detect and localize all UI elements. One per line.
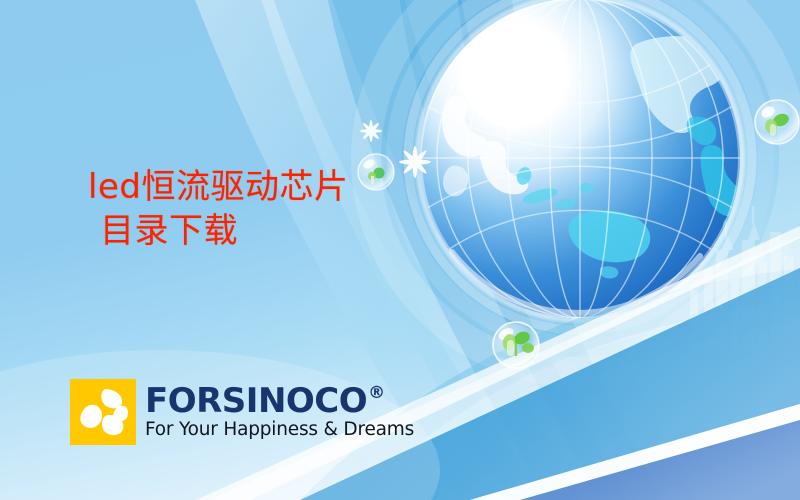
headline-line-1: led恒流驱动芯片 — [88, 166, 348, 210]
headline-line-1-cjk: 恒流驱动芯片 — [141, 167, 348, 207]
forsinoco-logo: FORSINOCO® For Your Happiness & Dreams — [70, 379, 414, 445]
brand-name: FORSINOCO® — [145, 384, 414, 418]
registered-trademark-symbol: ® — [368, 385, 385, 402]
headline-text: led恒流驱动芯片 目录下载 — [88, 166, 348, 253]
sparkle-star-large — [399, 146, 431, 178]
sparkle-star-small — [360, 120, 382, 142]
headline-line-2: 目录下载 — [88, 210, 348, 254]
bubble-right-edge — [755, 100, 799, 144]
pinwheel-icon — [70, 379, 136, 445]
headline-line-1-latin: led — [88, 167, 141, 207]
forsinoco-pinwheel-mark — [70, 379, 136, 445]
brand-tagline: For Your Happiness & Dreams — [145, 419, 414, 440]
brand-name-text: FORSINOCO — [145, 384, 367, 418]
bubble-sprout-lower — [493, 322, 539, 368]
logo-wordmark: FORSINOCO® For Your Happiness & Dreams — [145, 384, 414, 440]
promo-banner: led恒流驱动芯片 目录下载 FORSINOCO® For Your Happi… — [0, 0, 800, 500]
bubble-small-upper — [358, 154, 394, 190]
